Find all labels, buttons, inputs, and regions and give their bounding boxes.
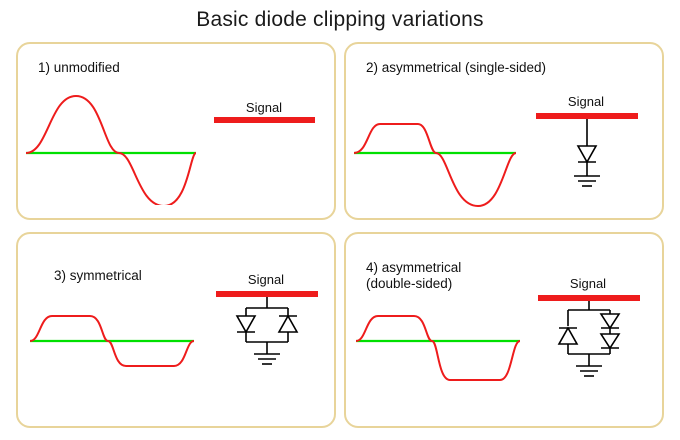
panel-label-4: 4) asymmetrical (double-sided) [366, 260, 461, 292]
panel-label-1: 1) unmodified [38, 60, 120, 76]
waveform-unmodified [18, 80, 208, 205]
waveform-clipped-both [22, 300, 202, 380]
page-title: Basic diode clipping variations [0, 8, 680, 32]
circuit-two-antiparallel-diodes [212, 288, 332, 383]
signal-label-4: Signal [538, 276, 638, 291]
panel-label-3: 3) symmetrical [54, 268, 142, 284]
signal-label-1: Signal [214, 100, 314, 115]
signal-bar-1 [210, 116, 320, 128]
signal-label-2: Signal [536, 94, 636, 109]
circuit-one-diode-to-ground [528, 110, 648, 210]
panel-label-2: 2) asymmetrical (single-sided) [366, 60, 546, 76]
circuit-three-diodes [534, 292, 654, 392]
signal-label-3: Signal [216, 272, 316, 287]
waveform-clipped-both-asymmetric [348, 300, 528, 390]
waveform-clipped-positive [346, 112, 526, 207]
